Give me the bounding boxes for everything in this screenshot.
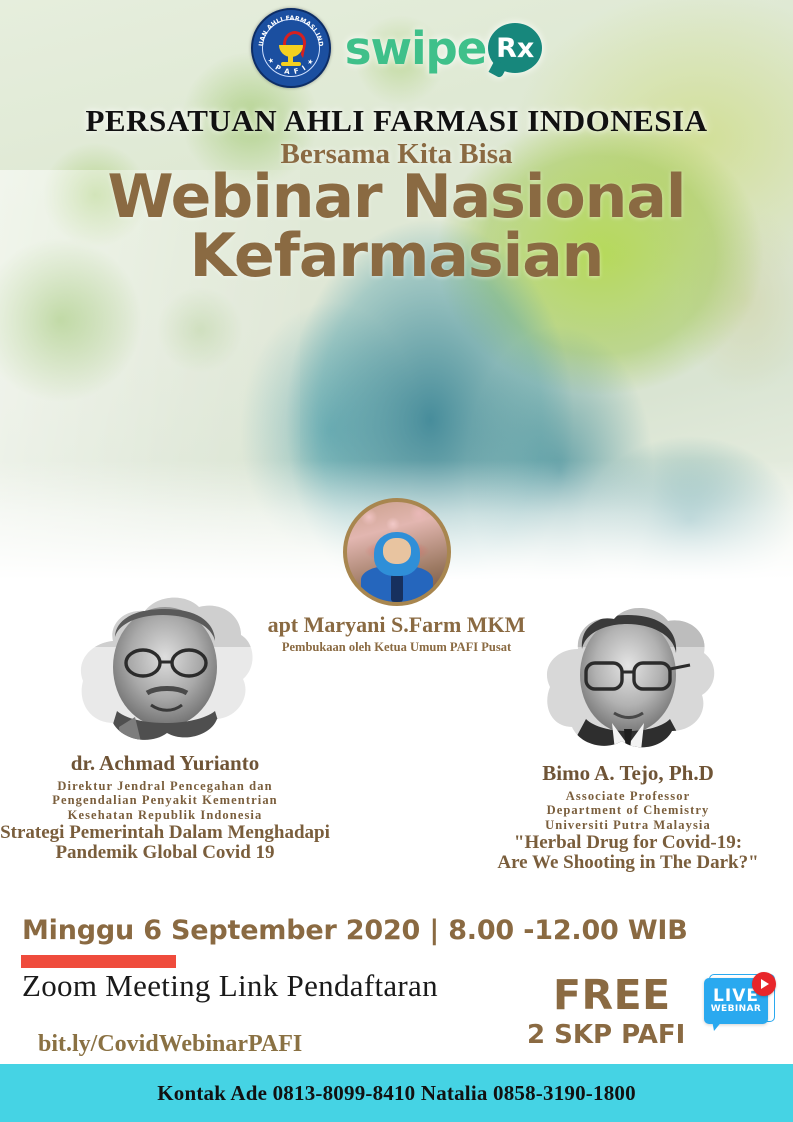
webinar-poster: PERSATUAN AHLI FARMASI INDONESIA ★ P A F… bbox=[0, 0, 793, 1122]
right-speaker-name: Bimo A. Tejo, Ph.D bbox=[463, 761, 793, 786]
left-speaker-name: dr. Achmad Yurianto bbox=[0, 751, 330, 776]
right-portrait-brush-mask bbox=[528, 595, 728, 760]
date-time-line: Minggu 6 September 2020 | 8.00 -12.00 WI… bbox=[22, 915, 772, 946]
organization-name: PERSATUAN AHLI FARMASI INDONESIA bbox=[0, 103, 793, 139]
right-affiliation-line-1: Associate Professor bbox=[463, 789, 793, 803]
left-speaker-topic: Strategi Pemerintah Dalam Menghadapi Pan… bbox=[0, 823, 330, 863]
cup-foot-icon bbox=[281, 62, 301, 66]
title-line-2: Kefarmasian bbox=[0, 227, 793, 286]
contact-text: Kontak Ade 0813-8099-8410 Natalia 0858-3… bbox=[157, 1081, 636, 1106]
contact-footer: Kontak Ade 0813-8099-8410 Natalia 0858-3… bbox=[0, 1064, 793, 1122]
live-badge-tail-icon bbox=[712, 1020, 723, 1031]
left-affiliation-line-3: Kesehatan Republik Indonesia bbox=[0, 808, 330, 822]
play-button-icon bbox=[752, 972, 776, 996]
right-speaker: Bimo A. Tejo, Ph.D Associate Professor D… bbox=[463, 595, 793, 873]
right-speaker-affiliation: Associate Professor Department of Chemis… bbox=[463, 789, 793, 832]
right-speaker-portrait bbox=[528, 595, 728, 760]
left-topic-line-2: Pandemik Global Covid 19 bbox=[0, 843, 330, 863]
rx-label: Rx bbox=[496, 35, 534, 62]
logo-row: PERSATUAN AHLI FARMASI INDONESIA ★ P A F… bbox=[0, 6, 793, 90]
red-underline-bar bbox=[21, 955, 176, 968]
avatar-face bbox=[383, 538, 411, 564]
left-speaker-portrait bbox=[65, 585, 265, 750]
left-affiliation-line-1: Direktur Jendral Pencegahan dan bbox=[0, 779, 330, 793]
swiperx-logo: swipe Rx bbox=[345, 23, 543, 73]
right-affiliation-line-2: Department of Chemistry bbox=[463, 803, 793, 817]
live-webinar-badge: LIVE WEBINAR bbox=[700, 972, 776, 1035]
left-portrait-brush-mask bbox=[65, 585, 265, 750]
left-affiliation-line-2: Pengendalian Penyakit Kementrian bbox=[0, 793, 330, 807]
left-speaker: dr. Achmad Yurianto Direktur Jendral Pen… bbox=[0, 585, 330, 863]
avatar-collar bbox=[391, 574, 403, 602]
free-label: FREE bbox=[553, 971, 671, 1019]
registration-link[interactable]: bit.ly/CovidWebinarPAFI bbox=[38, 1031, 302, 1058]
bowl-of-hygieia-icon bbox=[276, 31, 306, 65]
swipe-wordmark: swipe bbox=[345, 26, 487, 71]
live-badge-webinar-text: WEBINAR bbox=[704, 1005, 768, 1014]
skp-credits-label: 2 SKP PAFI bbox=[527, 1020, 685, 1050]
left-speaker-affiliation: Direktur Jendral Pencegahan dan Pengenda… bbox=[0, 779, 330, 822]
zoom-registration-label: Zoom Meeting Link Pendaftaran bbox=[22, 968, 438, 1004]
left-topic-line-1: Strategi Pemerintah Dalam Menghadapi bbox=[0, 823, 330, 843]
right-affiliation-line-3: Universiti Putra Malaysia bbox=[463, 818, 793, 832]
pafi-logo: PERSATUAN AHLI FARMASI INDONESIA ★ P A F… bbox=[251, 8, 331, 88]
center-speaker-avatar bbox=[343, 498, 451, 606]
poster-title: Webinar Nasional Kefarmasian bbox=[0, 168, 793, 286]
rx-speech-bubble-icon: Rx bbox=[488, 23, 542, 73]
right-topic-line-1: "Herbal Drug for Covid-19: bbox=[463, 833, 793, 853]
right-topic-line-2: Are We Shooting in The Dark?" bbox=[463, 853, 793, 873]
right-speaker-topic: "Herbal Drug for Covid-19: Are We Shooti… bbox=[463, 833, 793, 873]
